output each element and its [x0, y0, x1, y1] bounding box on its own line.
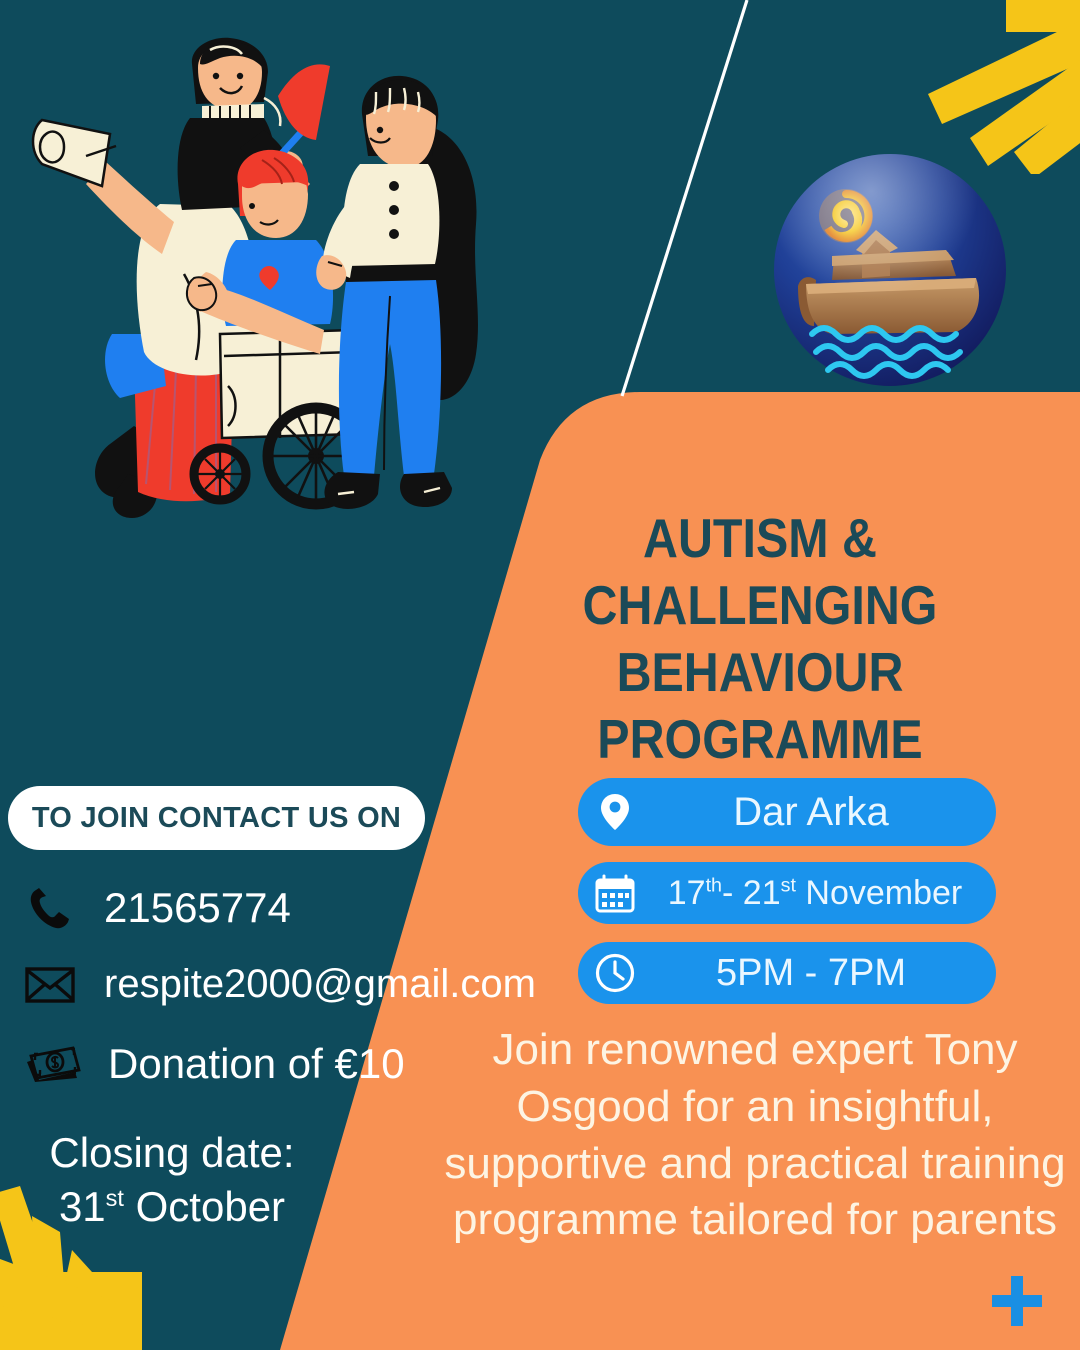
closing-date-label: Closing date:	[22, 1126, 322, 1180]
closing-date-block: Closing date: 31st October	[22, 1126, 322, 1234]
phone-number: 21565774	[104, 884, 291, 932]
email-address: respite2000@gmail.com	[104, 962, 536, 1007]
venue-pill[interactable]: Dar Arka	[578, 778, 996, 846]
location-pin-icon	[578, 792, 652, 832]
closing-date-value: 31st October	[22, 1180, 322, 1234]
phone-icon	[22, 885, 78, 931]
plus-icon	[988, 1272, 1046, 1330]
time-pill[interactable]: 5PM - 7PM	[578, 942, 996, 1004]
calendar-icon	[578, 872, 652, 914]
date-pill[interactable]: 17th- 21st November	[578, 862, 996, 924]
envelope-icon	[22, 965, 78, 1005]
time-label: 5PM - 7PM	[652, 952, 996, 995]
banknote-icon	[22, 1044, 86, 1084]
family-wheelchair-illustration	[24, 34, 494, 524]
sunburst-icon	[906, 0, 1080, 174]
date-label: 17th- 21st November	[652, 874, 996, 913]
donation-row: Donation of €10	[22, 1040, 405, 1088]
title-line-1: AUTISM & CHALLENGING	[505, 505, 1015, 639]
description-text: Join renowned expert Tony Osgood for an …	[440, 1022, 1070, 1249]
title-line-2: BEHAVIOUR PROGRAMME	[505, 639, 1015, 773]
contact-heading-label: TO JOIN CONTACT US ON	[32, 802, 401, 835]
ark-boat-logo	[770, 150, 1010, 390]
diagonal-line	[560, 0, 790, 400]
contact-heading-pill: TO JOIN CONTACT US ON	[8, 786, 425, 850]
clock-icon	[578, 952, 652, 994]
venue-label: Dar Arka	[652, 790, 996, 835]
email-row[interactable]: respite2000@gmail.com	[22, 962, 536, 1007]
poster-canvas: AUTISM & CHALLENGING BEHAVIOUR PROGRAMME…	[0, 0, 1080, 1350]
donation-label: Donation of €10	[108, 1040, 405, 1088]
phone-row[interactable]: 21565774	[22, 884, 291, 932]
